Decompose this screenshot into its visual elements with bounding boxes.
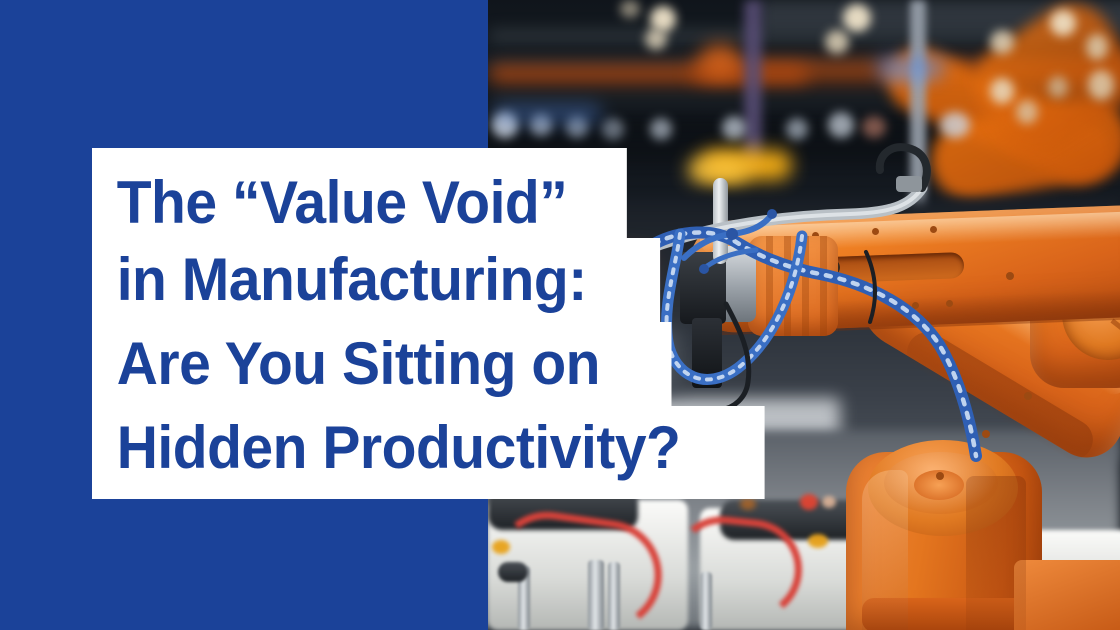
headline-line-2: in Manufacturing: xyxy=(92,238,660,322)
banner-canvas: The “Value Void” in Manufacturing: Are Y… xyxy=(0,0,1120,630)
headline-line-4: Hidden Productivity? xyxy=(92,406,765,499)
headline-line-1: The “Value Void” xyxy=(92,148,627,238)
disc-spoke xyxy=(1110,319,1120,348)
headline-block: The “Value Void” in Manufacturing: Are Y… xyxy=(92,148,802,485)
forearm-cable xyxy=(860,250,940,340)
robot-base-connector xyxy=(1014,560,1120,630)
headline-line-3: Are You Sitting on xyxy=(92,322,672,406)
